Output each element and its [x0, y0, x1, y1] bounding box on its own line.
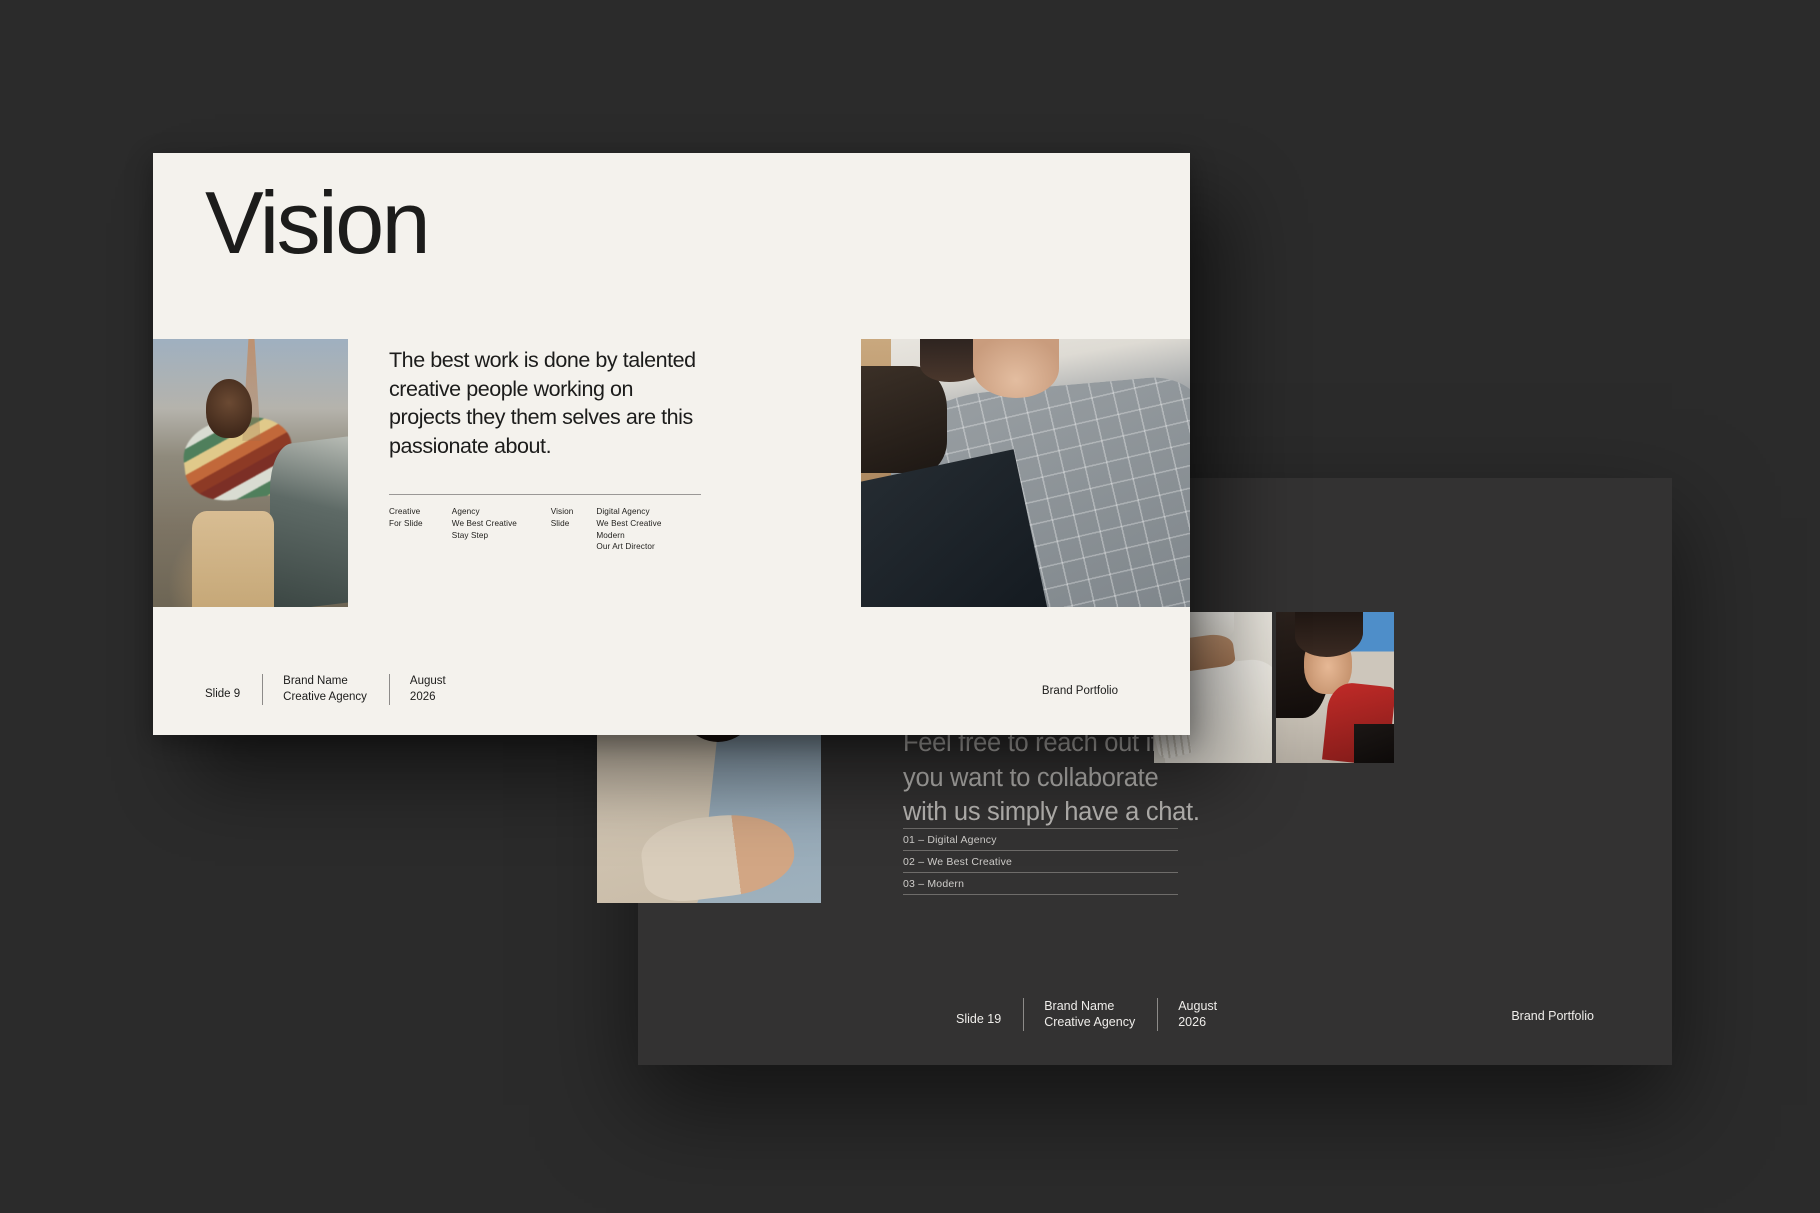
front-date-line1: August [410, 674, 446, 689]
photo-woman-striped-sweater-by-car [153, 339, 348, 607]
back-slide-list: 01 – Digital Agency 02 – We Best Creativ… [903, 828, 1178, 895]
divider [389, 494, 701, 495]
meta-line: Modern [596, 530, 701, 542]
meta-column-2: Agency We Best Creative Stay Step [452, 506, 551, 553]
front-date-block: August 2026 [389, 674, 468, 705]
front-brand-line2: Creative Agency [283, 690, 367, 705]
meta-row: Creative For Slide Agency We Best Creati… [389, 506, 701, 553]
back-portfolio-label: Brand Portfolio [1511, 1009, 1594, 1023]
back-date-block: August 2026 [1157, 998, 1239, 1031]
list-item[interactable]: 01 – Digital Agency [903, 828, 1178, 850]
meta-line: Vision [551, 506, 597, 518]
front-slide-number: Slide 9 [205, 674, 262, 702]
page-title: Vision [205, 179, 428, 267]
photo-woman-grey-check-blazer [861, 339, 1190, 607]
meta-line: Digital Agency [596, 506, 701, 518]
meta-line: Agency [452, 506, 551, 518]
back-brand-line2: Creative Agency [1044, 1014, 1135, 1031]
back-brand-block: Brand Name Creative Agency [1023, 998, 1157, 1031]
back-date-line1: August [1178, 998, 1217, 1015]
copy-block: The best work is done by talented creati… [389, 346, 701, 553]
list-item[interactable]: 02 – We Best Creative [903, 850, 1178, 872]
photo-pair [1154, 612, 1394, 763]
slide-front[interactable]: Vision The best work is done by talented… [153, 153, 1190, 735]
meta-column-1: Creative For Slide [389, 506, 452, 553]
meta-column-3: Vision Slide [551, 506, 597, 553]
meta-line: Stay Step [452, 530, 551, 542]
front-brand-block: Brand Name Creative Agency [262, 674, 389, 705]
list-item[interactable]: 03 – Modern [903, 872, 1178, 895]
front-date-line2: 2026 [410, 690, 446, 705]
front-brand-line1: Brand Name [283, 674, 367, 689]
meta-line: For Slide [389, 518, 452, 530]
front-portfolio-label: Brand Portfolio [1042, 685, 1118, 697]
photo-woman-red-top-blue-sky [1276, 612, 1394, 763]
meta-line: We Best Creative [452, 518, 551, 530]
meta-column-4: Digital Agency We Best Creative Modern O… [596, 506, 701, 553]
back-slide-footer: Slide 19 Brand Name Creative Agency Augu… [638, 945, 1672, 1065]
presentation-mockup-canvas: Feel free to reach out if you want to co… [0, 0, 1820, 1213]
meta-line: Creative [389, 506, 452, 518]
meta-line: Slide [551, 518, 597, 530]
front-slide-footer: Slide 9 Brand Name Creative Agency Augus… [153, 635, 1190, 735]
back-slide-number: Slide 19 [956, 998, 1023, 1028]
back-brand-line1: Brand Name [1044, 998, 1135, 1015]
back-date-line2: 2026 [1178, 1014, 1217, 1031]
meta-line: Our Art Director [596, 541, 701, 553]
quote-text: The best work is done by talented creati… [389, 346, 701, 460]
meta-line: We Best Creative [596, 518, 701, 530]
